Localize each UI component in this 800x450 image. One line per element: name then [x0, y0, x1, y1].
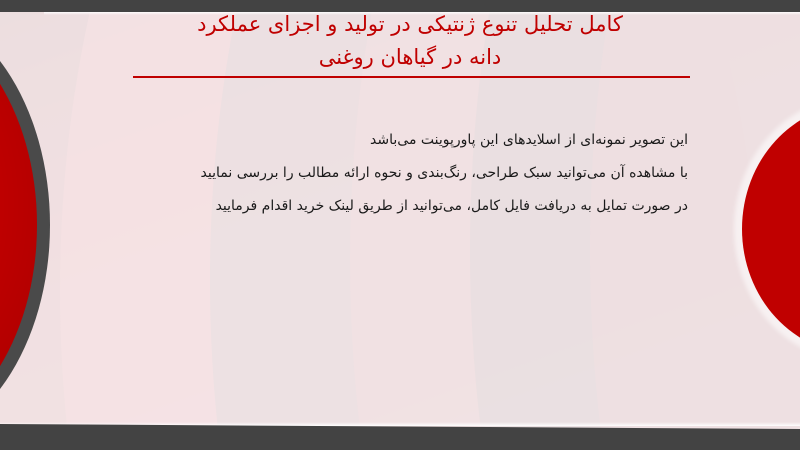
presentation-slide: کامل تحلیل تنوع ژنتیکی در تولید و اجزای …	[0, 0, 800, 450]
title-line-1: کامل تحلیل تنوع ژنتیکی در تولید و اجزای …	[120, 8, 700, 41]
body-line-2: با مشاهده آن می‌توانید سبک طراحی، رنگ‌بن…	[88, 157, 688, 190]
slide-body-text: این تصویر نمونه‌ای از اسلایدهای این پاور…	[88, 124, 688, 223]
slide-title: کامل تحلیل تنوع ژنتیکی در تولید و اجزای …	[120, 8, 700, 74]
body-line-1: این تصویر نمونه‌ای از اسلایدهای این پاور…	[88, 124, 688, 157]
title-line-2: دانه در گیاهان روغنی	[120, 41, 700, 74]
title-underline-rule	[133, 76, 690, 78]
body-line-3: در صورت تمایل به دریافت فایل کامل، می‌تو…	[88, 190, 688, 223]
